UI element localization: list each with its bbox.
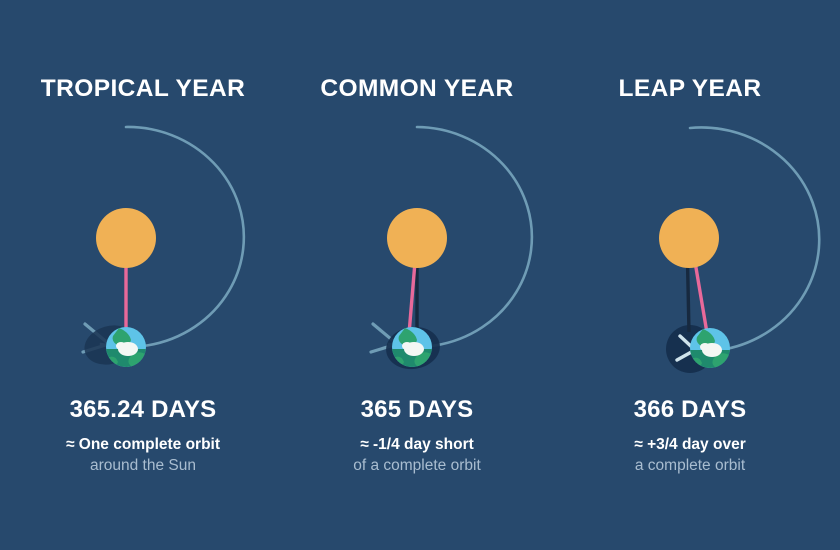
days-count: 366 DAYS (550, 396, 830, 424)
panel-title: TROPICAL YEAR (3, 76, 283, 103)
panel-title: LEAP YEAR (550, 76, 830, 103)
description-primary: ≈ One complete orbit (3, 436, 283, 454)
earth-icon (106, 327, 148, 371)
panel-leap-year: LEAP YEAR (550, 0, 830, 550)
description-secondary: around the Sun (3, 457, 283, 475)
sun-icon (96, 208, 156, 268)
description-primary: ≈ -1/4 day short (277, 436, 557, 454)
description-secondary: of a complete orbit (277, 457, 557, 475)
sun-icon (387, 208, 447, 268)
panel-common-year: COMMON YEAR (277, 0, 557, 550)
days-count: 365 DAYS (277, 396, 557, 424)
orbit-diagram (3, 120, 283, 375)
description-primary: ≈ +3/4 day over (550, 436, 830, 454)
orbit-diagram (550, 120, 830, 375)
orbit-diagram (277, 120, 557, 375)
description-secondary: a complete orbit (550, 457, 830, 475)
infographic-root: TROPICAL YEAR (0, 0, 840, 550)
panel-tropical-year: TROPICAL YEAR (3, 0, 283, 550)
sun-icon (659, 208, 719, 268)
panel-title: COMMON YEAR (277, 76, 557, 103)
days-count: 365.24 DAYS (3, 396, 283, 424)
